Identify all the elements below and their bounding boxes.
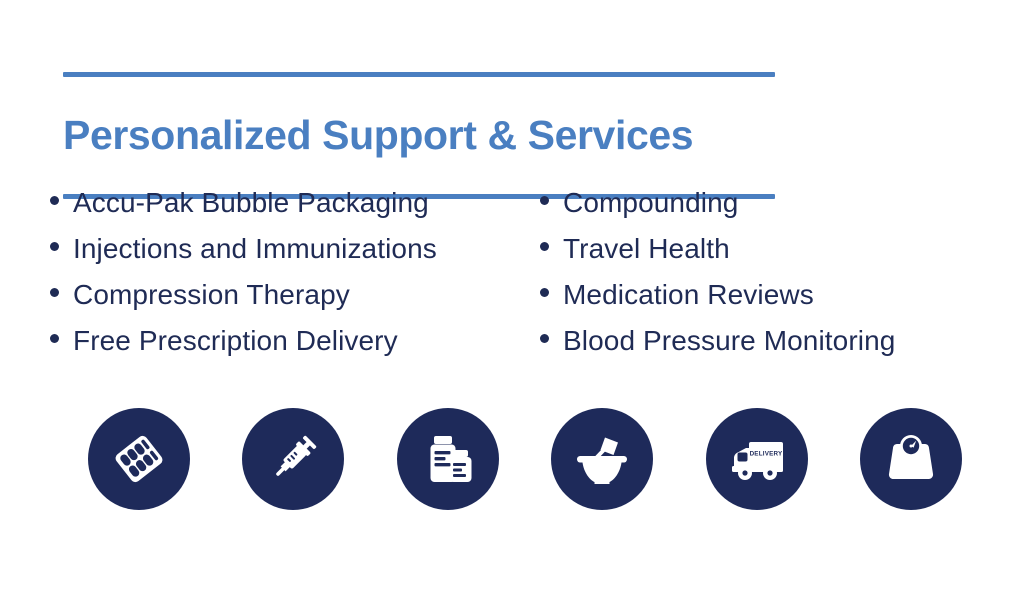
bullet-icon [540,242,549,251]
bullet-icon [50,288,59,297]
weight-scale-icon [880,428,942,490]
service-label: Accu-Pak Bubble Packaging [73,180,429,226]
bullet-icon [50,242,59,251]
list-item: Compounding [540,180,990,226]
truck-delivery-text: DELIVERY [749,451,782,458]
bullet-icon [540,288,549,297]
list-item: Accu-Pak Bubble Packaging [50,180,540,226]
icon-badge-blister-pack [88,408,190,510]
icon-badge-weight-scale [860,408,962,510]
services-column-left: Accu-Pak Bubble Packaging Injections and… [50,180,540,364]
services-column-right: Compounding Travel Health Medication Rev… [540,180,990,364]
bullet-icon [50,196,59,205]
list-item: Medication Reviews [540,272,990,318]
pill-bottles-icon [417,428,479,490]
service-label: Medication Reviews [563,272,814,318]
list-item: Blood Pressure Monitoring [540,318,990,364]
delivery-truck-icon: DELIVERY [724,426,790,492]
bullet-icon [540,334,549,343]
list-item: Travel Health [540,226,990,272]
service-label: Blood Pressure Monitoring [563,318,895,364]
service-label: Travel Health [563,226,730,272]
list-item: Free Prescription Delivery [50,318,540,364]
syringe-icon [262,428,324,490]
icon-badge-pill-bottles [397,408,499,510]
service-label: Free Prescription Delivery [73,318,398,364]
list-item: Injections and Immunizations [50,226,540,272]
list-item: Compression Therapy [50,272,540,318]
icon-badge-syringe [242,408,344,510]
bullet-icon [50,334,59,343]
page-title: Personalized Support & Services [63,104,775,166]
icon-row: DELIVERY [88,408,962,510]
service-label: Compression Therapy [73,272,350,318]
bullet-icon [540,196,549,205]
service-label: Injections and Immunizations [73,226,437,272]
icon-badge-delivery-truck: DELIVERY [706,408,808,510]
services-columns: Accu-Pak Bubble Packaging Injections and… [50,180,990,364]
service-label: Compounding [563,180,738,226]
title-rule-top [63,72,775,77]
mortar-pestle-icon [571,428,633,490]
icon-badge-mortar-pestle [551,408,653,510]
slide-canvas: Personalized Support & Services Accu-Pak… [0,0,1025,590]
blister-pack-icon [108,428,170,490]
